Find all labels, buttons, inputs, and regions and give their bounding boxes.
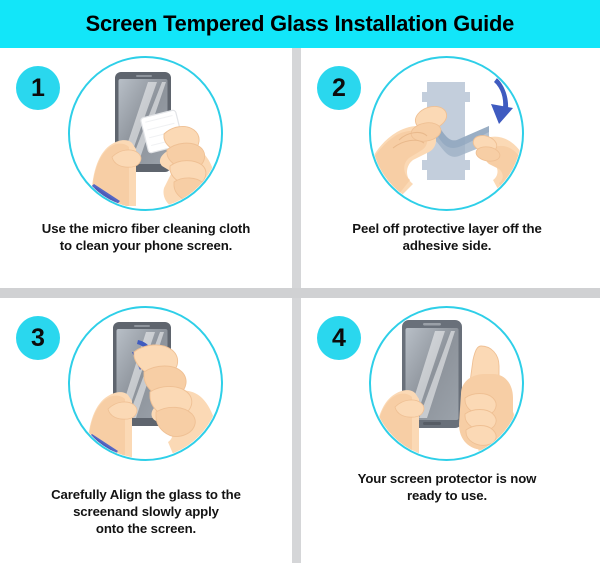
step-panel-2: 2 [301,48,593,288]
step-number-2: 2 [332,76,346,101]
step-caption-4: Your screen protector is now ready to us… [307,470,587,504]
caption-line: Your screen protector is now [307,470,587,487]
step-badge-3: 3 [16,316,60,360]
step-illustration-1 [68,56,223,211]
steps-grid: 1 [0,48,600,563]
illustration-ring-4 [369,306,524,461]
caption-line: Use the micro fiber cleaning cloth [6,220,286,237]
caption-line: adhesive side. [307,237,587,254]
page-title: Screen Tempered Glass Installation Guide [86,13,514,36]
step-caption-3: Carefully Align the glass to the screena… [6,486,286,537]
step-badge-4: 4 [317,316,361,360]
header-bar: Screen Tempered Glass Installation Guide [0,0,600,48]
step-badge-2: 2 [317,66,361,110]
step-badge-1: 1 [16,66,60,110]
step-number-1: 1 [31,76,45,101]
step-illustration-4 [369,306,524,461]
step-illustration-3 [68,306,223,461]
illustration-ring-2 [369,56,524,211]
illustration-ring-1 [68,56,223,211]
caption-line: Peel off protective layer off the [307,220,587,237]
step-panel-1: 1 [0,48,292,288]
caption-line: screenand slowly apply [6,503,286,520]
vertical-divider [292,48,301,563]
step-panel-3: 3 [0,298,292,563]
step-number-3: 3 [31,326,45,351]
step-illustration-2 [369,56,524,211]
caption-line: onto the screen. [6,520,286,537]
installation-guide-infographic: Screen Tempered Glass Installation Guide… [0,0,600,563]
caption-line: Carefully Align the glass to the [6,486,286,503]
step-caption-1: Use the micro fiber cleaning cloth to cl… [6,220,286,254]
horizontal-divider [0,288,600,298]
caption-line: to clean your phone screen. [6,237,286,254]
illustration-ring-3 [68,306,223,461]
step-panel-4: 4 [301,298,593,563]
step-caption-2: Peel off protective layer off the adhesi… [307,220,587,254]
caption-line: ready to use. [307,487,587,504]
step-number-4: 4 [332,326,346,351]
